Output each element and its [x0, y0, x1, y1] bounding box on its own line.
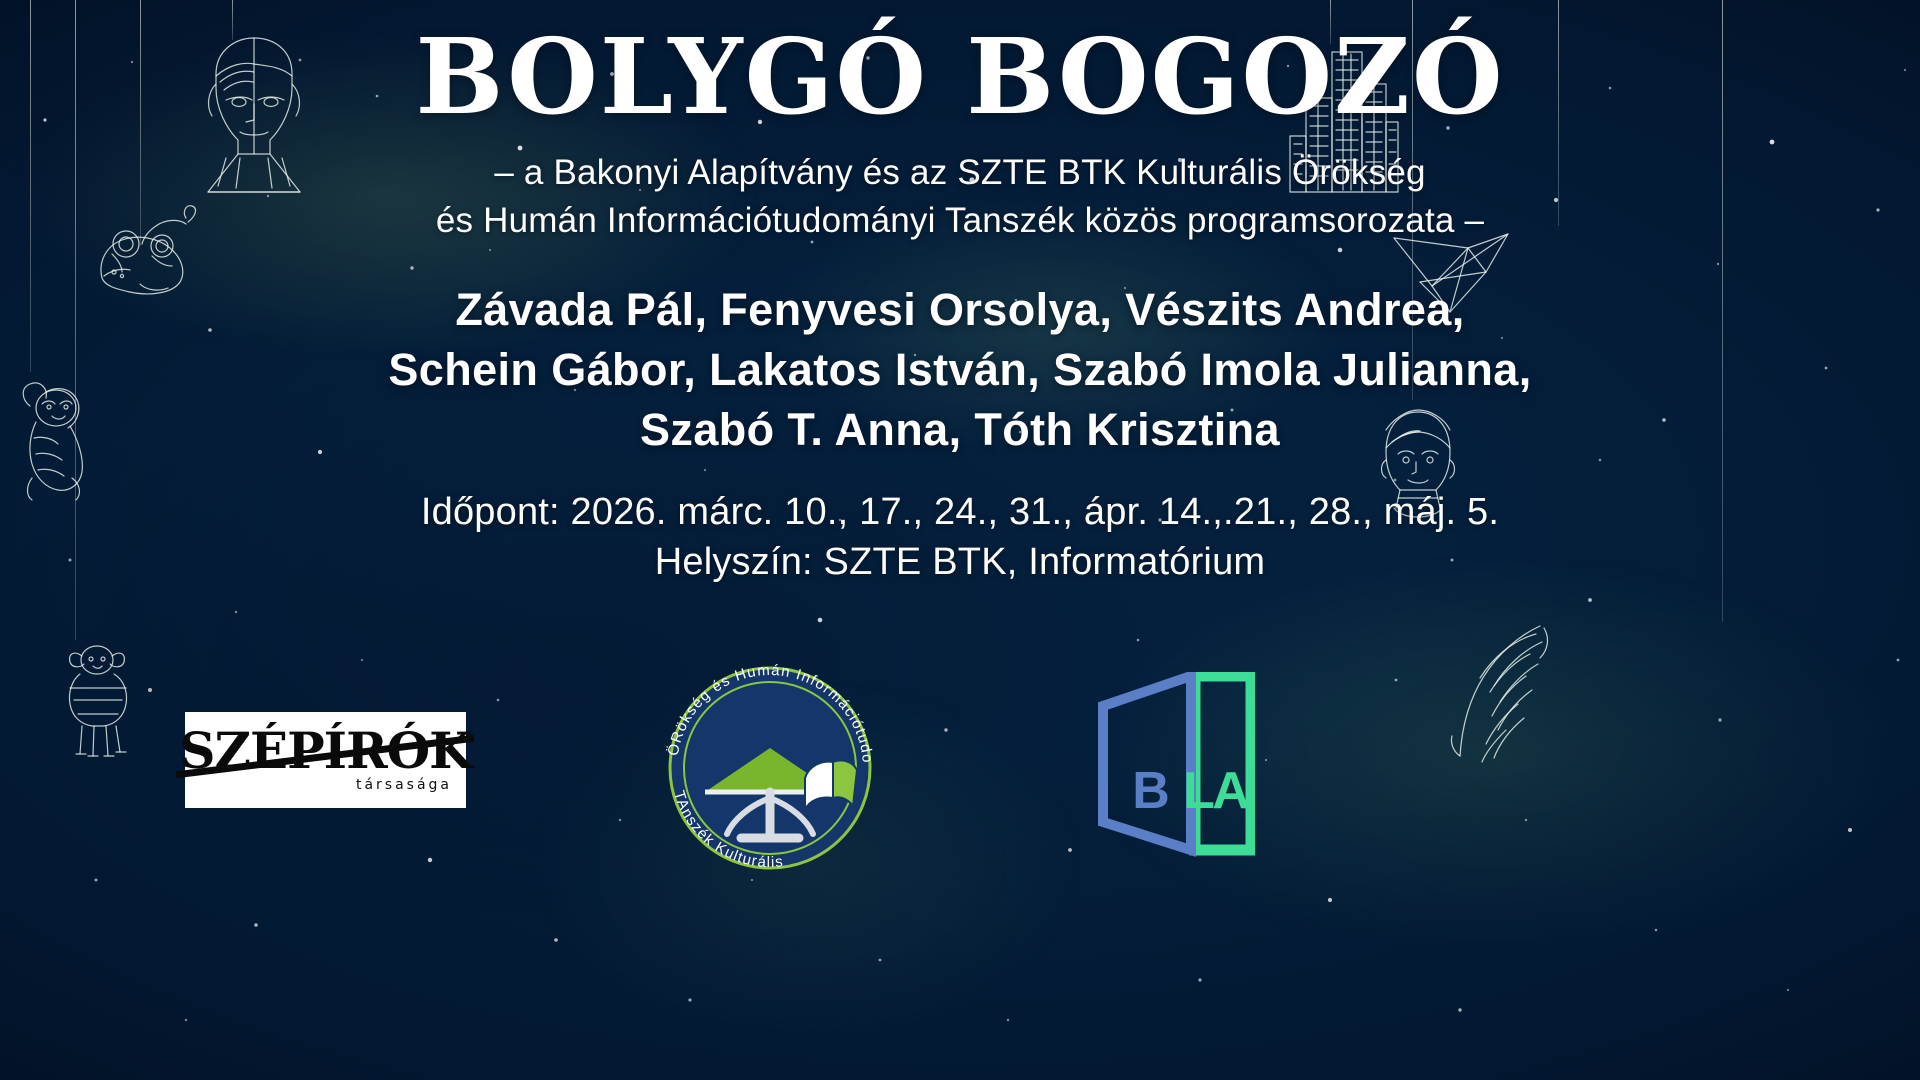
bla-logo-letter-b: B: [1132, 762, 1170, 820]
szepirok-logo-word: SZÉPÍRÓK: [179, 727, 471, 775]
bla-door-logo: B L A: [1095, 672, 1255, 857]
bla-logo-letter-a: A: [1212, 762, 1250, 820]
poster-canvas: BOLYGÓ BOGOZÓ – a Bakonyi Alapítvány és …: [0, 0, 1920, 1080]
subtitle-line-2: és Humán Információtudományi Tanszék köz…: [0, 200, 1920, 243]
page-title: BOLYGÓ BOGOZÓ: [0, 22, 1920, 131]
author-line: Závada Pál, Fenyvesi Orsolya, Vészits An…: [0, 283, 1920, 337]
event-date-line: Időpont: 2026. márc. 10., 17., 24., 31.,…: [0, 489, 1920, 535]
event-venue-line: Helyszín: SZTE BTK, Informatórium: [0, 539, 1920, 585]
szte-department-seal-logo: ÖRökség és Humán Információtudományi TAn…: [645, 640, 895, 872]
author-line: Szabó T. Anna, Tóth Krisztina: [0, 403, 1920, 457]
author-line: Schein Gábor, Lakatos István, Szabó Imol…: [0, 343, 1920, 397]
bla-logo-letter-l: L: [1183, 762, 1215, 820]
subtitle-line-1: – a Bakonyi Alapítvány és az SZTE BTK Ku…: [0, 152, 1920, 195]
szepirok-tarsasaga-logo: SZÉPÍRÓK társasága: [185, 712, 466, 808]
